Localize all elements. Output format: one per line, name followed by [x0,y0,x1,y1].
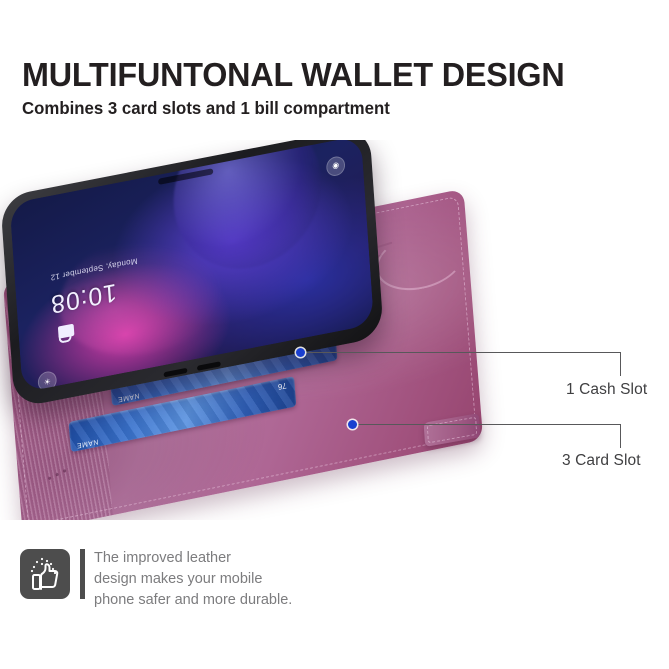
callout-line-card-horizontal [355,424,620,425]
callout-line-cash-horizontal [303,352,620,353]
footer-line: The improved leather [94,548,292,569]
footer-line: phone safer and more durable. [94,590,292,611]
thumbs-up-icon [20,549,70,599]
callout-label-card: 3 Card Slot [562,452,641,470]
callout-line-card-vertical [620,424,621,448]
footer-divider [80,549,85,599]
card-slot-number: 76 [278,381,287,392]
footer-line: design makes your mobile [94,569,292,590]
page-title: MULTIFUNTONAL WALLET DESIGN [22,57,565,95]
card-slot-label: NAME [117,391,139,402]
flashlight-icon[interactable]: ☀ [37,370,57,393]
callout-marker-cash [296,348,305,357]
footer-description: The improved leather design makes your m… [94,548,292,611]
camera-icon[interactable]: ◉ [326,155,346,178]
callout-marker-card [348,420,357,429]
card-slot-label: NAME [76,437,98,448]
callout-label-cash: 1 Cash Slot [566,381,647,399]
page-subtitle: Combines 3 card slots and 1 bill compart… [22,98,390,119]
product-feature-banner: MULTIFUNTONAL WALLET DESIGN Combines 3 c… [0,0,669,669]
callout-line-cash-vertical [620,352,621,376]
